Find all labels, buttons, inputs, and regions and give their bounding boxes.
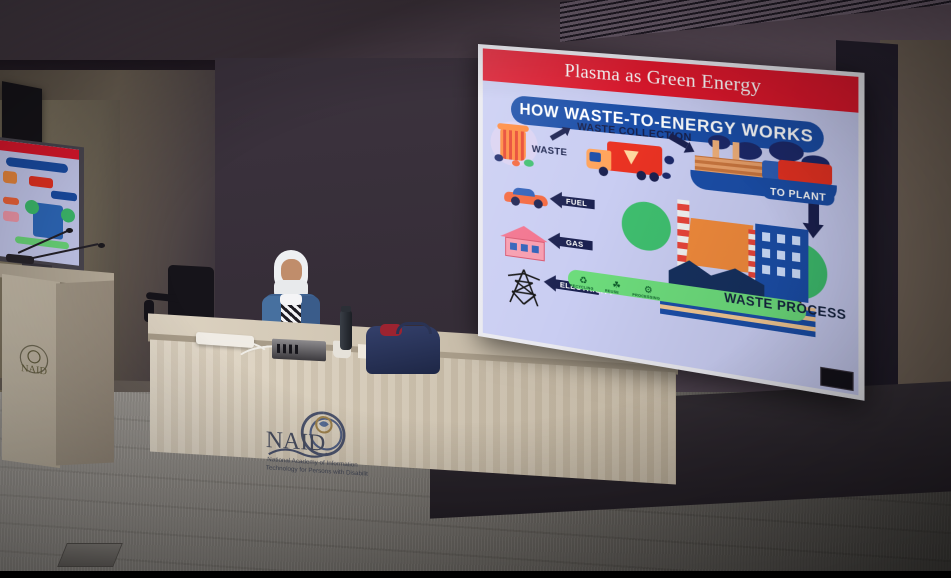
- building-window: [762, 232, 770, 242]
- plant-building-orange: [686, 218, 754, 273]
- waste-processing-plant: [622, 193, 835, 351]
- monitor-tree2-shape: [61, 208, 75, 224]
- trash-piece: [494, 154, 503, 162]
- building-window: [777, 250, 785, 260]
- building-window: [762, 265, 770, 275]
- truck-wheel: [599, 166, 608, 176]
- arrow-gas-head: [548, 231, 560, 249]
- monitor-slide-banner: [6, 157, 68, 174]
- monitor-bin-shape: [3, 170, 17, 184]
- monitor-truck-shape: [29, 176, 53, 189]
- garbage-truck: [586, 139, 662, 178]
- microphone-capsule-2: [98, 243, 105, 248]
- presenter-collar: [280, 294, 302, 305]
- smoke-cloud: [708, 134, 730, 150]
- label-fuel: FUEL: [566, 197, 587, 209]
- car-wheel: [511, 196, 520, 206]
- barge-stack: [713, 140, 720, 158]
- arrow-fuel-head: [550, 191, 562, 209]
- label-gas: GAS: [566, 238, 584, 250]
- lectern-naid-logo: NAID: [14, 341, 54, 391]
- barge-to-plant: TO PLANT: [688, 132, 839, 209]
- house-window: [532, 245, 539, 253]
- truck-wheel: [637, 170, 647, 181]
- trash-piece: [524, 159, 534, 167]
- power-pylon-icon: [504, 266, 544, 308]
- monitor-house-shape: [3, 210, 19, 222]
- building-window: [792, 269, 800, 279]
- water-bottle[interactable]: [340, 310, 352, 350]
- floor-service-box: [57, 543, 123, 567]
- house-window: [510, 242, 517, 250]
- car-wheel: [534, 199, 543, 209]
- lectern-logo-text: NAID: [21, 363, 47, 378]
- device-vent: [295, 345, 298, 354]
- monitor-screen: [0, 139, 79, 265]
- trash-piece: [662, 172, 671, 179]
- device-vent: [277, 344, 280, 353]
- lectern: NAID: [0, 268, 114, 468]
- photo-letterbox: [0, 571, 951, 578]
- lectern-side-panel: [56, 280, 114, 465]
- label-waste: WASTE: [532, 144, 567, 159]
- building-window: [777, 234, 785, 244]
- waste-bin: [500, 128, 526, 161]
- house-icon: [500, 223, 548, 260]
- trash-piece: [512, 160, 520, 167]
- water-bottle-cap[interactable]: [341, 306, 351, 312]
- device-vent: [289, 344, 292, 353]
- monitor-barge-shape: [51, 190, 77, 201]
- building-window: [792, 252, 800, 262]
- trash-piece: [664, 155, 674, 165]
- building-window: [792, 236, 800, 246]
- slide-watermark-badge: [820, 367, 853, 391]
- electronic-device[interactable]: [272, 339, 326, 362]
- truck-window: [589, 152, 600, 163]
- monitor-car-shape: [3, 196, 19, 205]
- monitor-tree-shape: [25, 199, 39, 215]
- building-window: [777, 267, 785, 277]
- barge-stack: [733, 142, 740, 160]
- truck-chute: [624, 150, 639, 165]
- conference-room-photo: NAID NAID National Ac: [0, 0, 951, 578]
- microphone-capsule: [66, 228, 73, 233]
- house-window: [521, 244, 528, 252]
- desk-logo-mark: NAID: [266, 427, 325, 457]
- arrow-electricity-head: [544, 274, 556, 292]
- truck-wheel: [649, 172, 659, 183]
- desk-naid-logo: NAID National Academy of Information Tec…: [256, 404, 368, 485]
- duffel-bag-handle: [396, 322, 432, 334]
- device-vent: [283, 344, 286, 353]
- slide-infographic: HOW WASTE-TO-ENERGY WORKS WASTE WASTE CO…: [483, 80, 859, 395]
- building-window: [762, 248, 770, 258]
- tree-icon: [622, 199, 671, 254]
- car-icon: [504, 187, 548, 210]
